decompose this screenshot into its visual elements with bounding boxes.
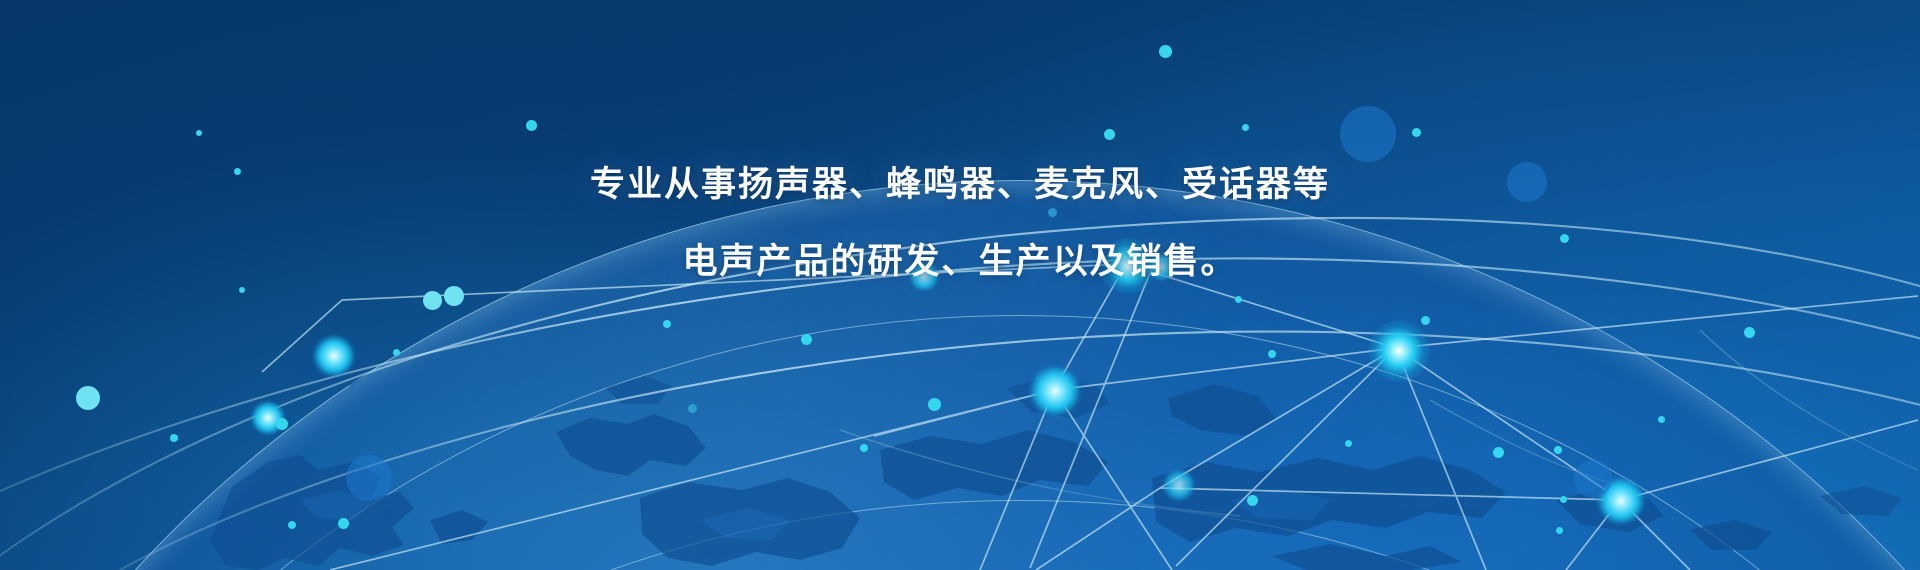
particle-dot (1340, 106, 1396, 162)
particle-dot (801, 334, 812, 345)
headline-line-2: 电声产品的研发、生产以及销售。 (0, 245, 1920, 280)
particle-dot (663, 320, 671, 328)
particle-dot (1574, 460, 1612, 498)
particle-dot (76, 386, 100, 410)
particle-dot (1554, 446, 1562, 454)
particle-dot (688, 404, 697, 413)
particle-dot (1104, 129, 1115, 140)
particle-dot (1421, 316, 1430, 325)
particle-dot (1556, 527, 1563, 534)
particle-dot (288, 521, 296, 529)
network-node-glow (1162, 468, 1196, 502)
particle-dot (423, 291, 442, 310)
network-node-glow (312, 334, 356, 378)
particle-dot (1560, 496, 1567, 503)
particle-dot (276, 418, 288, 430)
particle-dot (1247, 495, 1258, 506)
particle-dot (860, 444, 868, 452)
network-node-glow (1028, 364, 1082, 418)
particle-dot (1235, 296, 1242, 303)
particle-dot (526, 120, 537, 131)
hero-banner: 专业从事扬声器、蜂鸣器、麦克风、受话器等 电声产品的研发、生产以及销售。 (0, 0, 1920, 570)
particle-dot (1744, 327, 1755, 338)
particle-dot (1412, 128, 1421, 137)
particle-dot (196, 130, 202, 136)
particle-dot (338, 518, 349, 529)
particle-dot (1159, 45, 1172, 58)
particle-dot (1493, 447, 1504, 458)
particle-dot (1242, 124, 1249, 131)
particle-dot (346, 455, 392, 501)
network-node-glow (1368, 320, 1430, 382)
headline-line-1: 专业从事扬声器、蜂鸣器、麦克风、受话器等 (0, 168, 1920, 203)
particle-dot (444, 286, 464, 306)
particle-dot (928, 398, 941, 411)
particle-dot (1345, 440, 1352, 447)
particle-dot (1268, 350, 1276, 358)
particle-dot (170, 434, 178, 442)
headline-block: 专业从事扬声器、蜂鸣器、麦克风、受话器等 电声产品的研发、生产以及销售。 (0, 168, 1920, 280)
particle-dot (1658, 416, 1665, 423)
particle-dot (239, 287, 245, 293)
particle-dot (393, 349, 400, 356)
